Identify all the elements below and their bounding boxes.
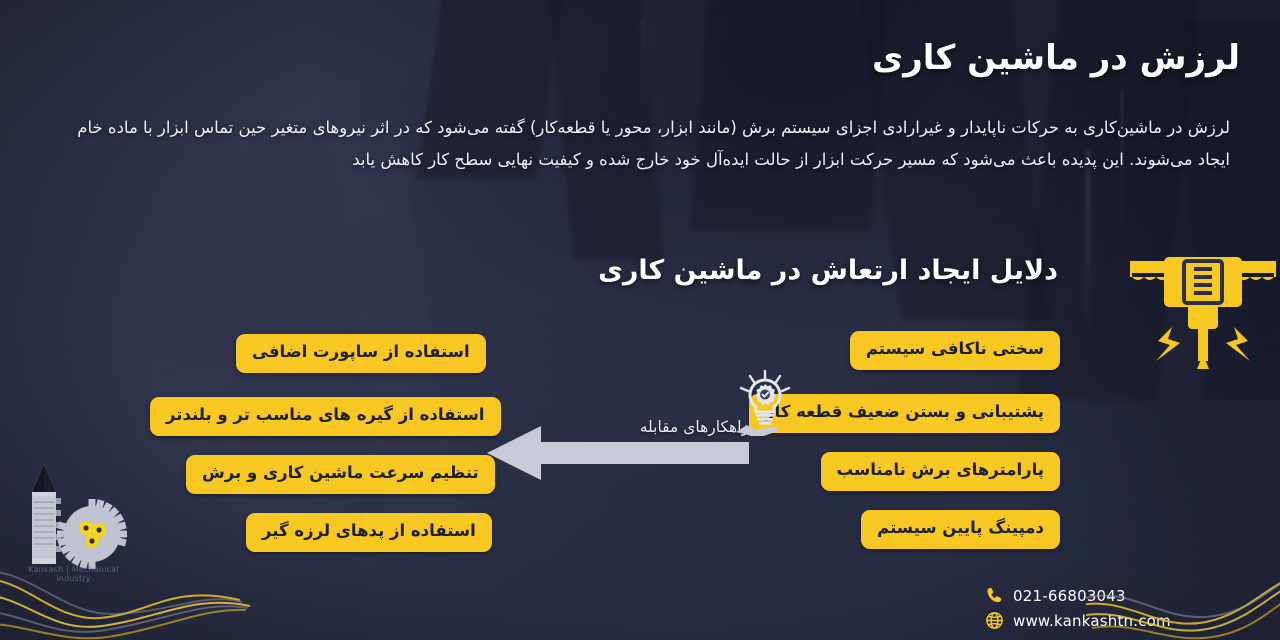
- decorative-waves-left: [0, 566, 320, 640]
- globe-icon: [985, 611, 1004, 630]
- cause-badge[interactable]: سختی ناکافی سیستم: [850, 331, 1060, 370]
- section-subtitle: دلایل ایجاد ارتعاش در ماشین کاری: [598, 255, 1058, 286]
- arrow-label: راهکارهای مقابله: [640, 418, 749, 436]
- jackhammer-drill-icon: [1128, 243, 1278, 373]
- solution-badge[interactable]: استفاده از ساپورت اضافی: [236, 334, 486, 373]
- infographic-poster: لرزش در ماشین کاری لرزش در ماشین‌کاری به…: [0, 0, 1280, 640]
- solution-badge[interactable]: تنظیم سرعت ماشین کاری و برش: [186, 455, 495, 494]
- page-title: لرزش در ماشین کاری: [872, 38, 1240, 78]
- solution-badge[interactable]: استفاده از گیره های مناسب تر و بلندتر: [150, 397, 501, 436]
- background-vignette: [0, 0, 1280, 640]
- cause-badge[interactable]: پارامترهای برش نامناسب: [821, 452, 1060, 491]
- solutions-arrow-group: راهکارهای مقابله: [487, 424, 749, 482]
- intro-paragraph: لرزش در ماشین‌کاری به حرکات ناپایدار و غ…: [50, 112, 1230, 176]
- phone-icon: [985, 586, 1004, 605]
- lightbulb-gear-in-hand-icon: [736, 370, 794, 436]
- solution-badge[interactable]: استفاده از پدهای لرزه گیر: [246, 513, 492, 552]
- decorative-waves-right: [1086, 574, 1280, 640]
- cause-badge[interactable]: دمپینگ پایین سیستم: [861, 510, 1060, 549]
- cause-badge[interactable]: پشتیبانی و بستن ضعیف قطعه کار: [749, 394, 1060, 433]
